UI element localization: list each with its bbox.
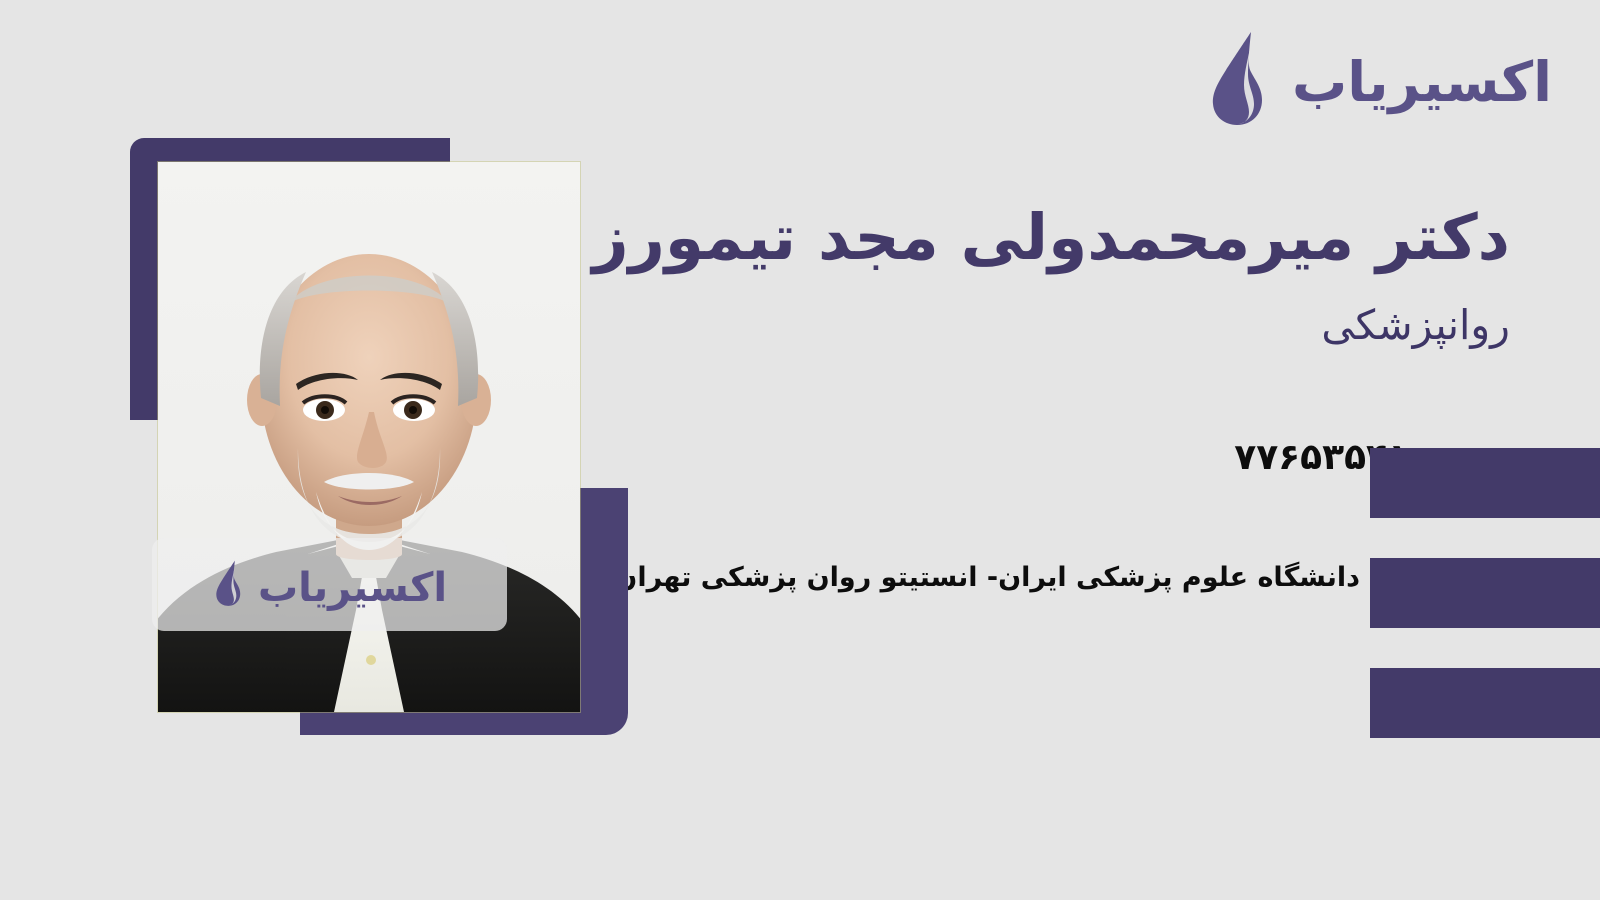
doctor-portrait bbox=[158, 162, 580, 712]
doctor-profile-card: اکسیریاب دکتر میرمحمدولی مجد تیمورز روان… bbox=[0, 0, 1600, 900]
decor-bar-3 bbox=[1370, 668, 1600, 738]
left-gutter bbox=[0, 0, 130, 900]
brand-name: اکسیریاب bbox=[1292, 55, 1552, 110]
brand-logo[interactable]: اکسیریاب bbox=[1204, 30, 1552, 126]
decor-bar-1 bbox=[1370, 448, 1600, 518]
decor-bar-2 bbox=[1370, 558, 1600, 628]
doctor-photo-block: اکسیریاب bbox=[130, 138, 630, 738]
flame-droplet-icon bbox=[1204, 30, 1278, 126]
